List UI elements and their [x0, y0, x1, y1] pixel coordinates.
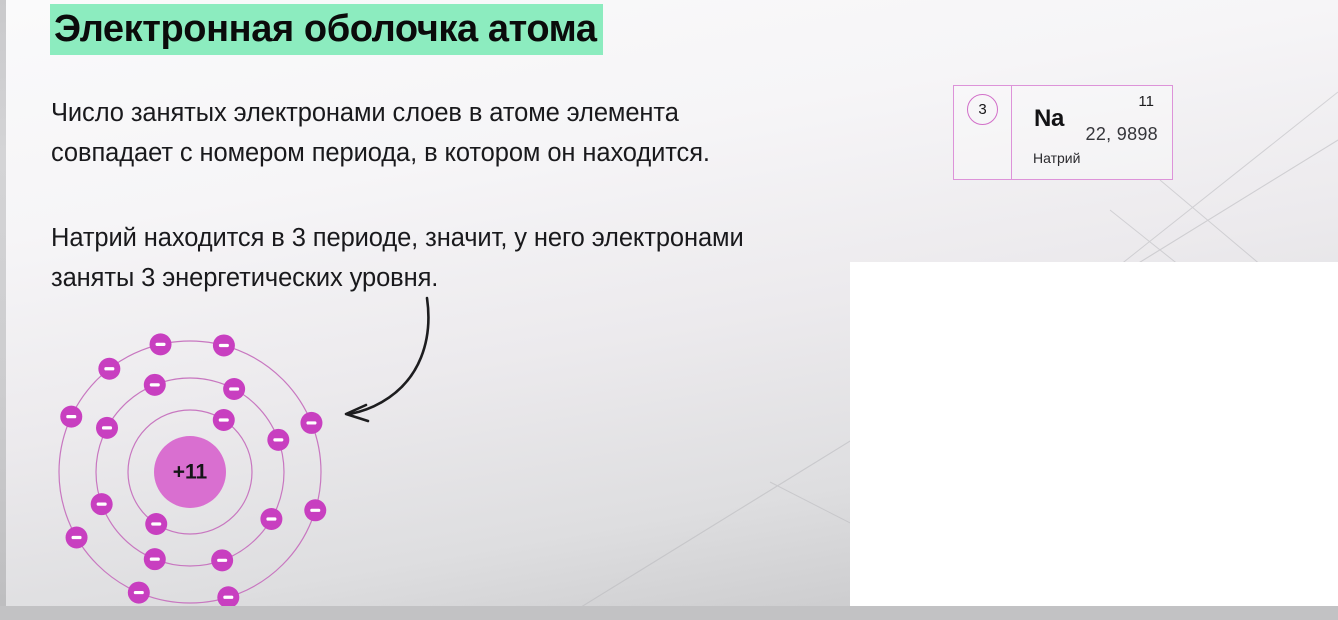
video-overlay-panel[interactable] — [850, 262, 1338, 606]
electron-s2-6 — [96, 417, 118, 439]
electron-s3-4 — [213, 334, 235, 356]
device-left-edge — [0, 0, 6, 620]
electron-s3-2 — [60, 406, 82, 428]
electron-s2-5 — [144, 374, 166, 396]
electron-s1-2 — [145, 513, 167, 535]
electron-s1-1 — [213, 409, 235, 431]
electron-s2-4 — [223, 378, 245, 400]
electron-s2-8 — [144, 548, 166, 570]
element-symbol: Na — [1034, 105, 1064, 133]
atomic-number: 11 — [1138, 93, 1154, 110]
electron-s2-2 — [260, 508, 282, 530]
electron-s3-5 — [150, 333, 172, 355]
slide-screenshot: Электронная оболочка атома Число занятых… — [0, 0, 1338, 620]
element-card-period-cell: 3 — [954, 86, 1012, 179]
atom-diagram: +11 — [36, 296, 356, 620]
electron-s3-8 — [128, 582, 150, 604]
element-name: Натрий — [1033, 150, 1080, 166]
atomic-mass: 22, 9898 — [1086, 124, 1158, 145]
electron-s2-1 — [211, 549, 233, 571]
paragraph-period-rule: Число занятых электронами слоев в атоме … — [51, 93, 710, 173]
element-card-info-cell: 11 Na 22, 9898 Натрий — [1012, 86, 1172, 179]
electron-s2-3 — [267, 429, 289, 451]
electron-s3-7 — [304, 499, 326, 521]
electron-s3-9 — [98, 358, 120, 380]
electron-s3-3 — [66, 527, 88, 549]
period-number: 3 — [967, 94, 998, 125]
paragraph-sodium-example: Натрий находится в 3 периоде, значит, у … — [51, 218, 744, 298]
page-title: Электронная оболочка атома — [50, 4, 603, 55]
nucleus-charge-label: +11 — [173, 461, 208, 484]
electron-s3-1 — [217, 586, 239, 608]
electron-s2-7 — [91, 493, 113, 515]
page-title-text: Электронная оболочка атома — [50, 4, 603, 55]
element-card: 3 11 Na 22, 9898 Натрий — [953, 85, 1173, 180]
device-bottom-edge — [0, 606, 1338, 620]
electron-s3-6 — [300, 412, 322, 434]
